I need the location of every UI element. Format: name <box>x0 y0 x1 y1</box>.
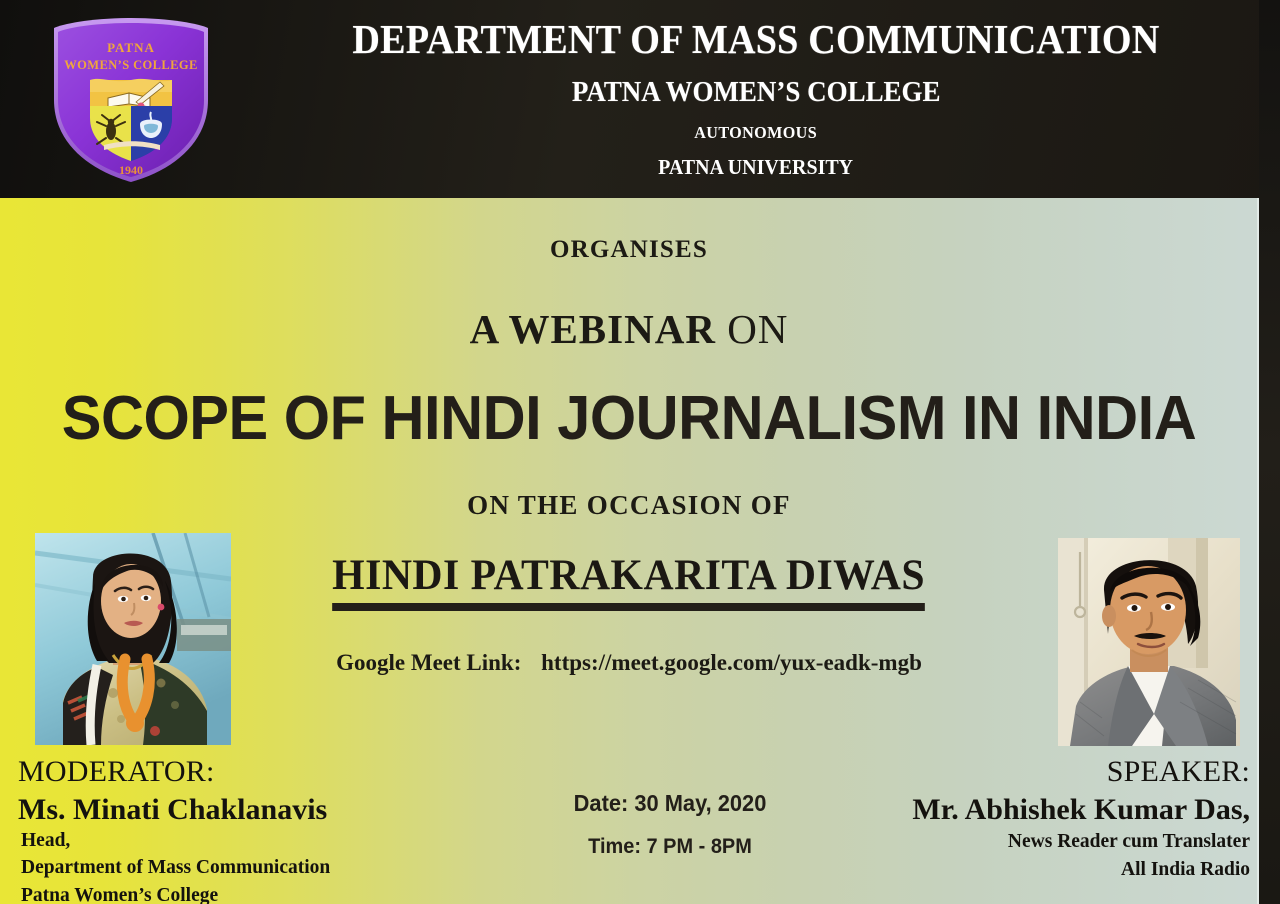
moderator-institution: Patna Women’s College <box>21 884 448 904</box>
college-crest-logo: PATNA WOMEN’S COLLEGE <box>40 14 222 186</box>
moderator-name: Ms. Minati Chaklanavis <box>18 793 448 826</box>
webinar-heading-bold: A WEBINAR <box>470 306 716 352</box>
header-autonomous-label: AUTONOMOUS <box>695 123 818 143</box>
speaker-designation: News Reader cum Translater <box>820 829 1250 854</box>
speaker-role-label: SPEAKER: <box>820 755 1250 789</box>
schedule-block: Date: 30 May, 2020 Time: 7 PM - 8PM <box>460 790 880 859</box>
event-date: Date: 30 May, 2020 <box>471 790 870 817</box>
webinar-heading: A WEBINAR ON <box>0 305 1258 353</box>
header-department-title: DEPARTMENT OF MASS COMMUNICATION <box>352 18 1159 61</box>
moderator-role-label: MODERATOR: <box>18 755 448 789</box>
moderator-designation: Head, <box>21 829 448 854</box>
moderator-block: MODERATOR: Ms. Minati Chaklanavis Head, … <box>18 755 448 904</box>
right-dark-border <box>1259 0 1280 904</box>
moderator-photo <box>35 533 231 745</box>
speaker-organisation: All India Radio <box>820 857 1250 882</box>
webinar-title: SCOPE OF HINDI JOURNALISM IN INDIA <box>25 388 1233 450</box>
svg-text:1940: 1940 <box>119 163 143 177</box>
header-college-name: PATNA WOMEN’S COLLEGE <box>572 77 941 107</box>
webinar-heading-light: ON <box>727 306 788 352</box>
occasion-name: HINDI PATRAKARITA DIWAS <box>333 551 926 611</box>
webinar-poster: PATNA WOMEN’S COLLEGE <box>0 0 1280 904</box>
google-meet-link-url[interactable]: https://meet.google.com/yux-eadk-mgb <box>541 650 922 675</box>
google-meet-link-label: Google Meet Link: <box>336 650 521 675</box>
occasion-label: ON THE OCCASION OF <box>0 490 1258 521</box>
event-time: Time: 7 PM - 8PM <box>471 835 870 859</box>
moderator-department: Department of Mass Communication <box>21 856 448 881</box>
speaker-name: Mr. Abhishek Kumar Das, <box>820 793 1250 826</box>
svg-text:PATNA: PATNA <box>107 40 155 55</box>
poster-header: PATNA WOMEN’S COLLEGE <box>0 0 1280 198</box>
header-university-name: PATNA UNIVERSITY <box>659 155 854 180</box>
speaker-photo <box>1058 538 1240 746</box>
svg-text:WOMEN’S COLLEGE: WOMEN’S COLLEGE <box>64 58 197 72</box>
organises-label: ORGANISES <box>0 236 1258 264</box>
speaker-block: SPEAKER: Mr. Abhishek Kumar Das, News Re… <box>820 755 1250 882</box>
header-title-block: DEPARTMENT OF MASS COMMUNICATION PATNA W… <box>232 0 1280 198</box>
